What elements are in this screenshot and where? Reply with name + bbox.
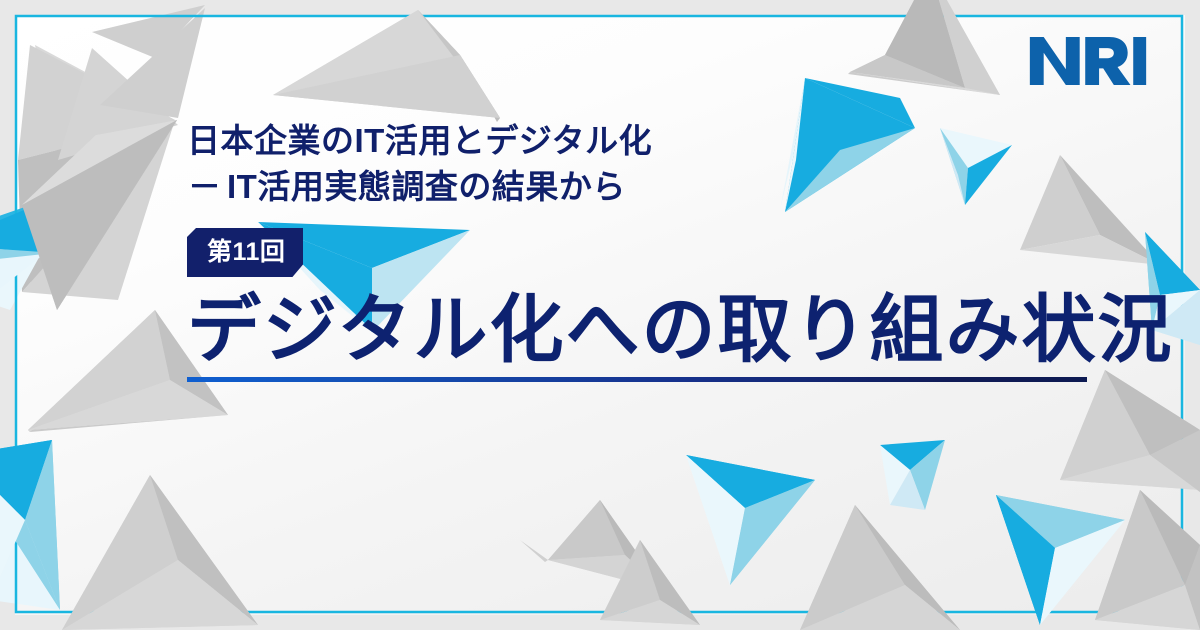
subtitle-line-2: －IT活用実態調査の結果から: [187, 164, 1107, 210]
nri-logo-mark: [1030, 37, 1146, 85]
text-block: 日本企業のIT活用とデジタル化 －IT活用実態調査の結果から 第11回 デジタル…: [187, 118, 1107, 382]
subtitle-line-2-text: IT活用実態調査の結果から: [227, 168, 626, 205]
issue-number-badge: 第11回: [187, 228, 303, 277]
main-title: デジタル化への取り組み状況: [187, 291, 1107, 371]
title-underline-rule: [187, 377, 1087, 382]
banner-root: 日本企業のIT活用とデジタル化 －IT活用実態調査の結果から 第11回 デジタル…: [0, 0, 1200, 630]
subtitle-line-1: 日本企業のIT活用とデジタル化: [187, 118, 1107, 164]
nri-logo[interactable]: [1028, 30, 1148, 92]
badge-wrapper: 第11回: [187, 228, 1107, 277]
subtitle-dash: －: [188, 168, 227, 205]
